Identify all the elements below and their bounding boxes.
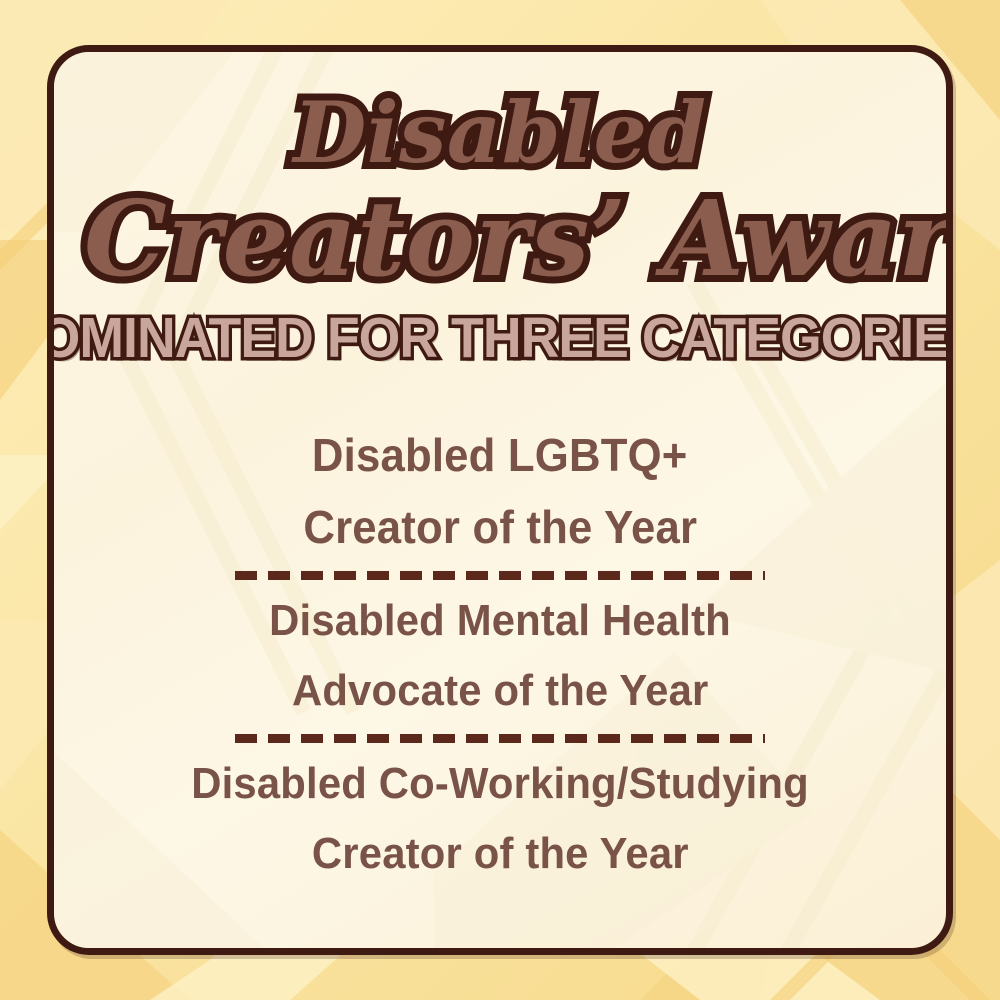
title-line-1: Disabled — [84, 90, 916, 176]
category-2-line-2: Advocate of the Year — [292, 669, 709, 713]
subtitle-banner: NOMINATED FOR THREE CATEGORIES! — [47, 310, 953, 367]
category-item-3: Disabled Co-Working/Studying Creator of … — [84, 749, 916, 889]
awards-poster: Disabled Creators’ Awards NOMINATED FOR … — [0, 0, 1000, 1000]
category-divider-1 — [235, 571, 765, 580]
category-2-line-1: Disabled Mental Health — [269, 599, 731, 643]
poster-title: Disabled Creators’ Awards — [84, 90, 916, 292]
category-1-line-1: Disabled LGBTQ+ — [312, 432, 688, 478]
content-card: Disabled Creators’ Awards NOMINATED FOR … — [47, 45, 953, 955]
categories-list: Disabled LGBTQ+ Creator of the Year Disa… — [84, 419, 916, 889]
title-line-2: Creators’ Awards — [84, 186, 916, 292]
category-3-line-2: Creator of the Year — [312, 832, 689, 876]
category-1-line-2: Creator of the Year — [303, 504, 697, 550]
category-item-2: Disabled Mental Health Advocate of the Y… — [84, 586, 916, 726]
category-item-1: Disabled LGBTQ+ Creator of the Year — [84, 419, 916, 563]
category-3-line-1: Disabled Co-Working/Studying — [191, 762, 809, 806]
category-divider-2 — [235, 734, 765, 743]
